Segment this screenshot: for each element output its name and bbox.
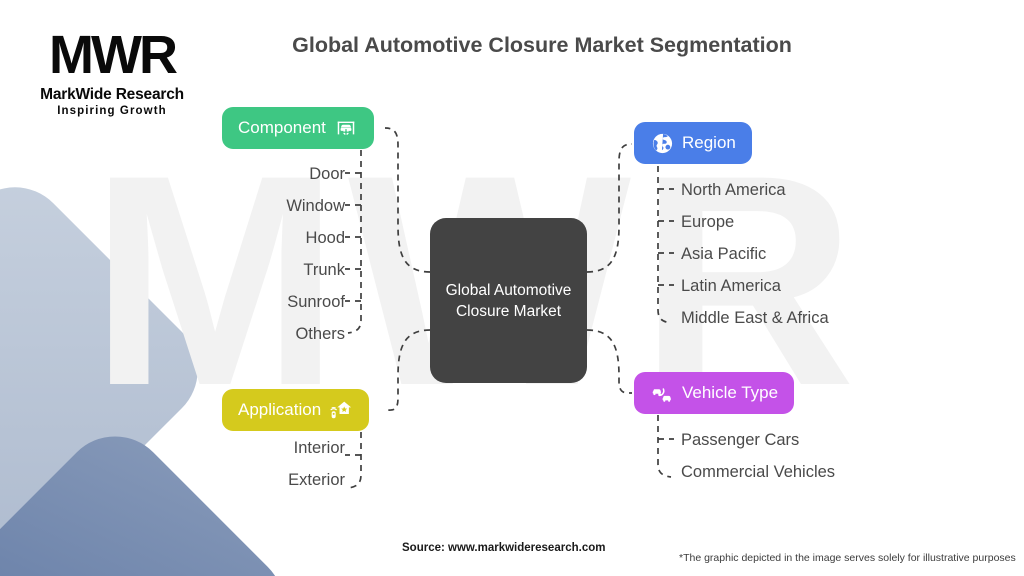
leaf-item: Latin America [681,270,981,302]
branch-label-component: Component [238,118,326,138]
leaf-item: Middle East & Africa [681,302,981,334]
leaf-item: Passenger Cars [681,424,981,456]
leaf-item: Trunk [180,254,345,286]
globe-icon [650,131,674,155]
leaf-item: Window [180,190,345,222]
leaf-item: Europe [681,206,981,238]
footer-source: Source: www.markwideresearch.com [402,542,605,554]
branch-badge-vehicle[interactable]: Vehicle Type [634,372,794,414]
branch-label-application: Application [238,400,321,420]
branch-label-vehicle: Vehicle Type [682,383,778,403]
leaf-item: Others [180,318,345,350]
leaf-item: Commercial Vehicles [681,456,981,488]
smart-home-icon [329,398,353,422]
infographic-canvas: MWR MWR MarkWide Research Inspiring Grow… [0,0,1024,576]
leaf-list-component: Door Window Hood Trunk Sunroof Others [180,158,345,350]
car-lift-gear-icon [334,116,358,140]
page-title: Global Automotive Closure Market Segment… [0,33,1024,58]
leaf-item: Door [180,158,345,190]
branch-label-region: Region [682,133,736,153]
branch-badge-application[interactable]: Application [222,389,369,431]
leaf-list-vehicle: Passenger Cars Commercial Vehicles [681,424,981,488]
logo-tagline: Inspiring Growth [22,105,202,117]
center-node: Global Automotive Closure Market [430,218,587,383]
leaf-item: North America [681,174,981,206]
logo-company-name: MarkWide Research [22,86,202,104]
leaf-item: Sunroof [180,286,345,318]
center-node-label: Global Automotive Closure Market [430,280,587,322]
leaf-item: Interior [180,432,345,464]
leaf-item: Exterior [180,464,345,496]
leaf-item: Asia Pacific [681,238,981,270]
branch-badge-component[interactable]: Component [222,107,374,149]
leaf-list-region: North America Europe Asia Pacific Latin … [681,174,981,334]
branch-badge-region[interactable]: Region [634,122,752,164]
footer-disclaimer: *The graphic depicted in the image serve… [679,552,1016,564]
leaf-list-application: Interior Exterior [180,432,345,496]
vehicles-icon [650,381,674,405]
leaf-item: Hood [180,222,345,254]
